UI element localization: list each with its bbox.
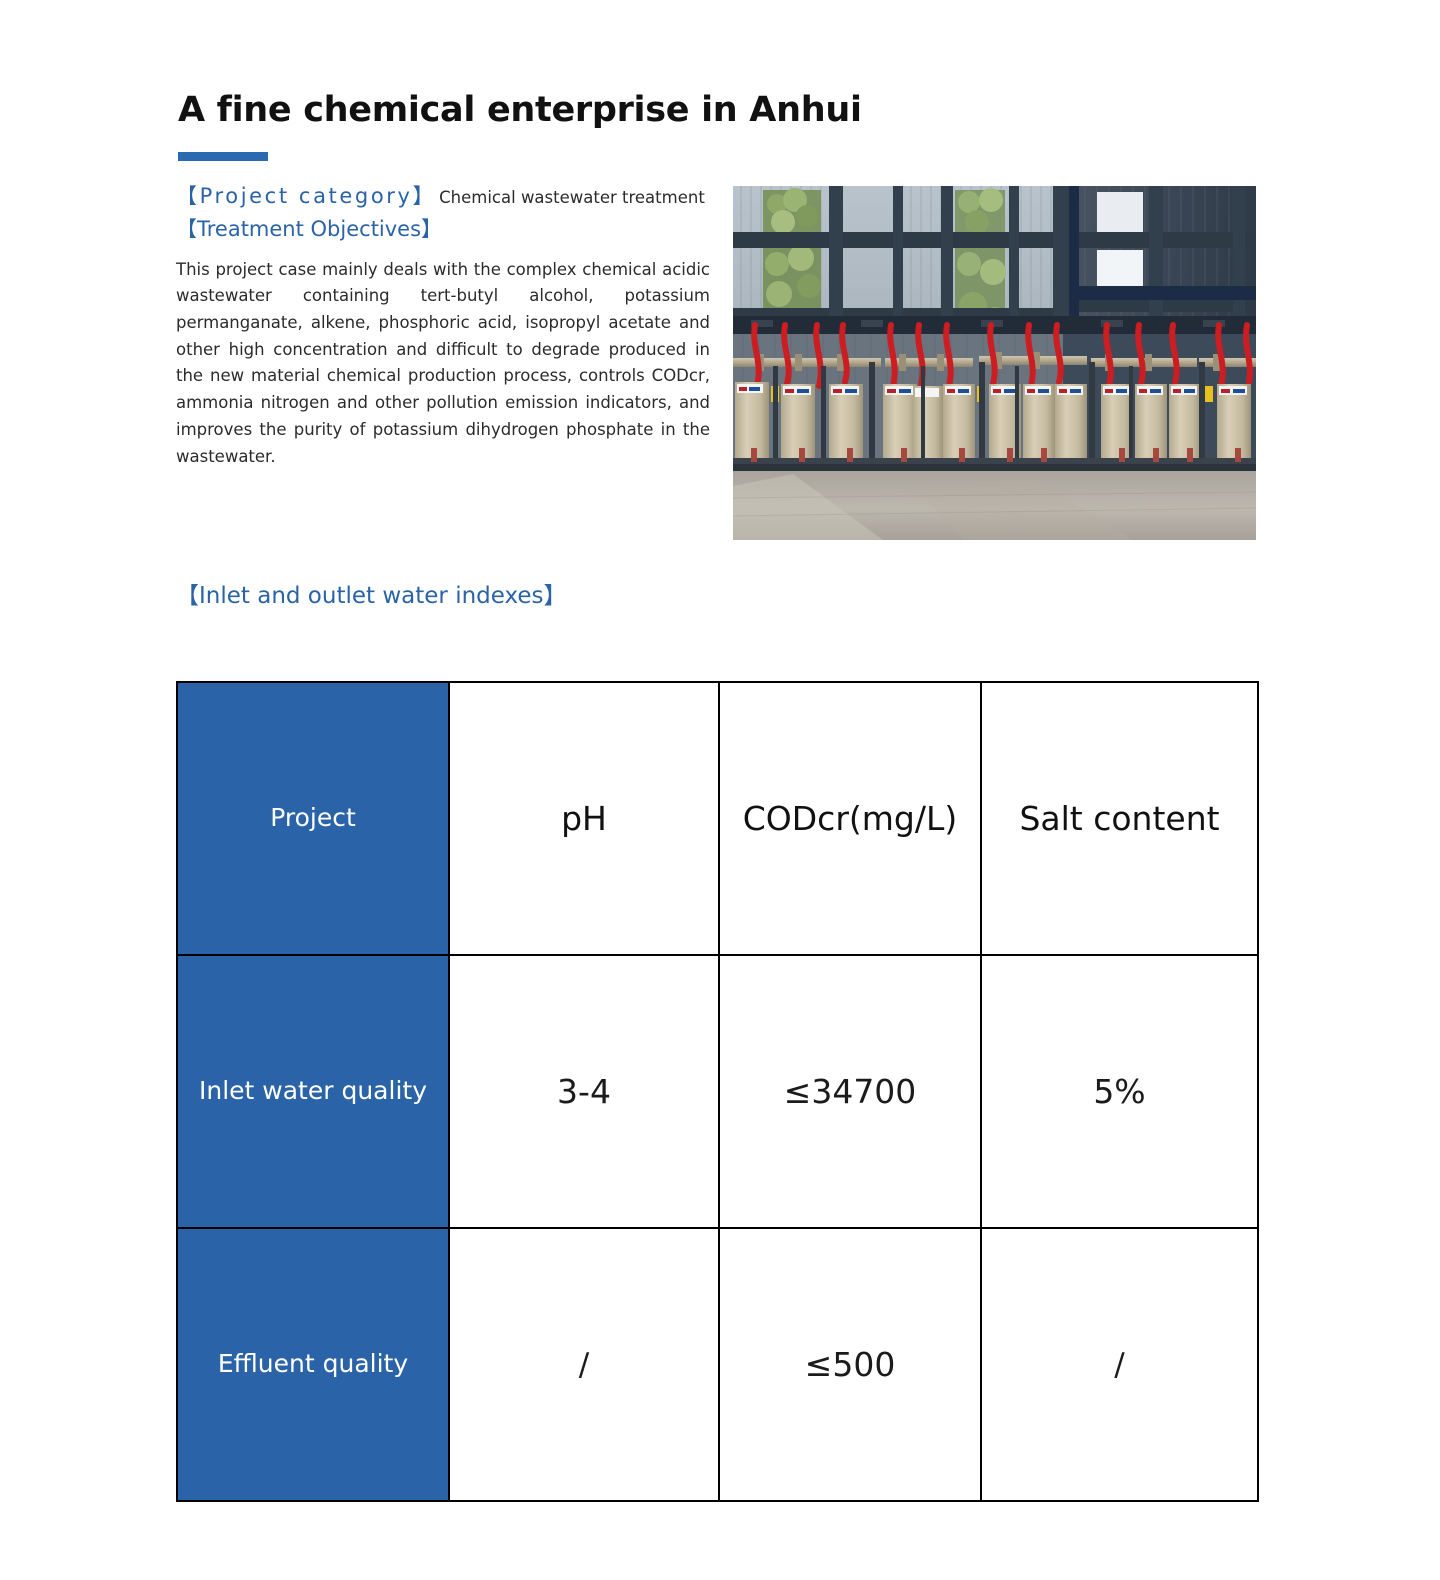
cell-inlet-salt: 5% bbox=[981, 955, 1258, 1228]
table-header-ph: pH bbox=[449, 682, 719, 955]
table-row: Effluent quality / ≤500 / bbox=[177, 1228, 1258, 1501]
water-indexes-table: Project pH CODcr(mg/L) Salt content Inle… bbox=[176, 681, 1259, 1502]
table-header-row: Project pH CODcr(mg/L) Salt content bbox=[177, 682, 1258, 955]
facility-photo bbox=[733, 186, 1256, 540]
project-category-value: Chemical wastewater treatment bbox=[439, 188, 705, 207]
treatment-objectives-line: 【Treatment Objectives】 bbox=[176, 219, 710, 240]
project-category-line: 【Project category】Chemical wastewater tr… bbox=[176, 186, 710, 207]
title-accent-bar bbox=[178, 152, 268, 161]
project-category-label: 【Project category】 bbox=[176, 184, 436, 208]
page-title: A fine chemical enterprise in Anhui bbox=[178, 90, 862, 130]
cell-effluent-codcr: ≤500 bbox=[719, 1228, 981, 1501]
treatment-objectives-label: 【Treatment Objectives】 bbox=[176, 217, 442, 241]
facility-photo-image bbox=[733, 186, 1256, 540]
project-details-block: 【Project category】Chemical wastewater tr… bbox=[176, 186, 710, 487]
treatment-objectives-body: This project case mainly deals with the … bbox=[176, 257, 710, 471]
cell-effluent-salt: / bbox=[981, 1228, 1258, 1501]
table-header-salt: Salt content bbox=[981, 682, 1258, 955]
table-header-project: Project bbox=[177, 682, 449, 955]
row-label-effluent-quality: Effluent quality bbox=[177, 1228, 449, 1501]
cell-inlet-ph: 3-4 bbox=[449, 955, 719, 1228]
inlet-outlet-indexes-heading: 【Inlet and outlet water indexes】 bbox=[176, 576, 567, 610]
table-header-codcr: CODcr(mg/L) bbox=[719, 682, 981, 955]
table-row: Inlet water quality 3-4 ≤34700 5% bbox=[177, 955, 1258, 1228]
cell-inlet-codcr: ≤34700 bbox=[719, 955, 981, 1228]
cell-effluent-ph: / bbox=[449, 1228, 719, 1501]
row-label-inlet-water-quality: Inlet water quality bbox=[177, 955, 449, 1228]
